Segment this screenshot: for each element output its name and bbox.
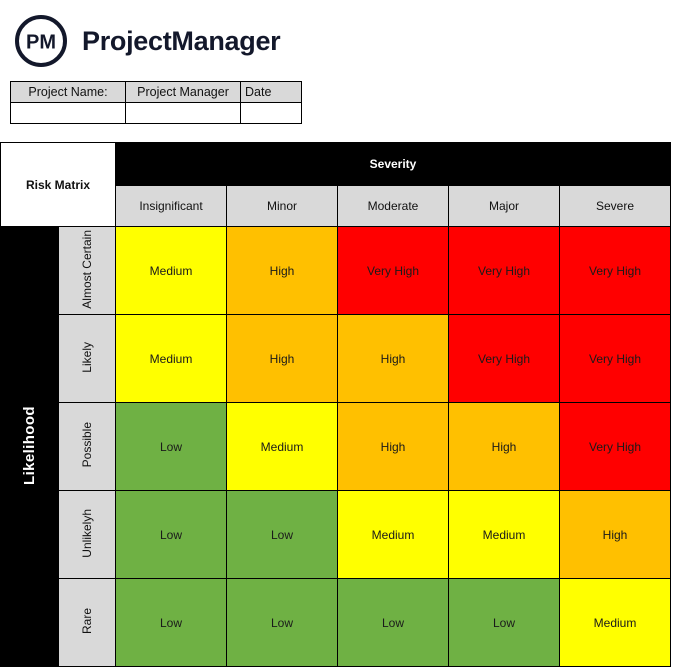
- project-manager-field[interactable]: [126, 103, 241, 124]
- likelihood-level-likely: Likely: [58, 315, 116, 403]
- matrix-row: Likelihood Almost Certain Medium High Ve…: [1, 227, 671, 315]
- matrix-cell[interactable]: Medium: [116, 315, 227, 403]
- matrix-cell[interactable]: High: [338, 403, 449, 491]
- matrix-cell[interactable]: Low: [338, 579, 449, 667]
- project-name-field[interactable]: [11, 103, 126, 124]
- likelihood-level-label: Likely: [80, 342, 94, 373]
- matrix-cell[interactable]: Low: [449, 579, 560, 667]
- severity-level-severe: Severe: [560, 186, 671, 227]
- matrix-cell[interactable]: Medium: [227, 403, 338, 491]
- svg-text:PM: PM: [26, 32, 56, 54]
- matrix-cell[interactable]: Medium: [338, 491, 449, 579]
- likelihood-axis: Likelihood: [1, 227, 59, 667]
- matrix-row: Rare Low Low Low Low Medium: [1, 579, 671, 667]
- likelihood-level-label: Possible: [80, 422, 94, 467]
- date-field[interactable]: [241, 103, 302, 124]
- matrix-cell[interactable]: Low: [116, 403, 227, 491]
- pm-circle-logo-icon: PM: [14, 14, 68, 68]
- matrix-row: Likely Medium High High Very High Very H…: [1, 315, 671, 403]
- matrix-cell[interactable]: Very High: [560, 403, 671, 491]
- matrix-cell[interactable]: Medium: [560, 579, 671, 667]
- severity-level-major: Major: [449, 186, 560, 227]
- matrix-cell[interactable]: Low: [227, 491, 338, 579]
- matrix-cell[interactable]: High: [227, 227, 338, 315]
- likelihood-level-possible: Possible: [58, 403, 116, 491]
- matrix-row: Unlikelyh Low Low Medium Medium High: [1, 491, 671, 579]
- matrix-cell[interactable]: Medium: [116, 227, 227, 315]
- matrix-cell[interactable]: Very High: [449, 315, 560, 403]
- likelihood-axis-title: Likelihood: [21, 406, 38, 485]
- brand-name: ProjectManager: [82, 26, 280, 57]
- likelihood-level-rare: Rare: [58, 579, 116, 667]
- likelihood-level-unlikely: Unlikelyh: [58, 491, 116, 579]
- matrix-cell[interactable]: Very High: [560, 315, 671, 403]
- brand-header: PM ProjectManager: [14, 14, 280, 68]
- matrix-cell[interactable]: High: [560, 491, 671, 579]
- severity-level-minor: Minor: [227, 186, 338, 227]
- matrix-row: Possible Low Medium High High Very High: [1, 403, 671, 491]
- project-info-header-row: Project Name: Project Manager Date: [11, 82, 302, 103]
- matrix-cell[interactable]: Low: [116, 491, 227, 579]
- risk-matrix-corner-title: Risk Matrix: [1, 143, 116, 227]
- date-header: Date: [241, 82, 302, 103]
- matrix-cell[interactable]: Very High: [560, 227, 671, 315]
- project-name-header: Project Name:: [11, 82, 126, 103]
- matrix-cell[interactable]: High: [227, 315, 338, 403]
- matrix-cell[interactable]: Very High: [338, 227, 449, 315]
- matrix-cell[interactable]: High: [449, 403, 560, 491]
- severity-level-insignificant: Insignificant: [116, 186, 227, 227]
- matrix-cell[interactable]: Medium: [449, 491, 560, 579]
- likelihood-level-label: Almost Certain: [80, 230, 94, 309]
- matrix-cell[interactable]: High: [338, 315, 449, 403]
- project-info-table: Project Name: Project Manager Date: [10, 81, 302, 124]
- likelihood-level-label: Rare: [80, 608, 94, 634]
- risk-matrix-table: Risk Matrix Severity Insignificant Minor…: [0, 142, 671, 667]
- severity-axis-title: Severity: [116, 143, 671, 186]
- matrix-cell[interactable]: Low: [227, 579, 338, 667]
- likelihood-level-label: Unlikelyh: [80, 509, 94, 558]
- project-manager-header: Project Manager: [126, 82, 241, 103]
- severity-title-row: Risk Matrix Severity: [1, 143, 671, 186]
- matrix-cell[interactable]: Low: [116, 579, 227, 667]
- likelihood-level-almost-certain: Almost Certain: [58, 227, 116, 315]
- matrix-cell[interactable]: Very High: [449, 227, 560, 315]
- severity-level-moderate: Moderate: [338, 186, 449, 227]
- project-info-value-row: [11, 103, 302, 124]
